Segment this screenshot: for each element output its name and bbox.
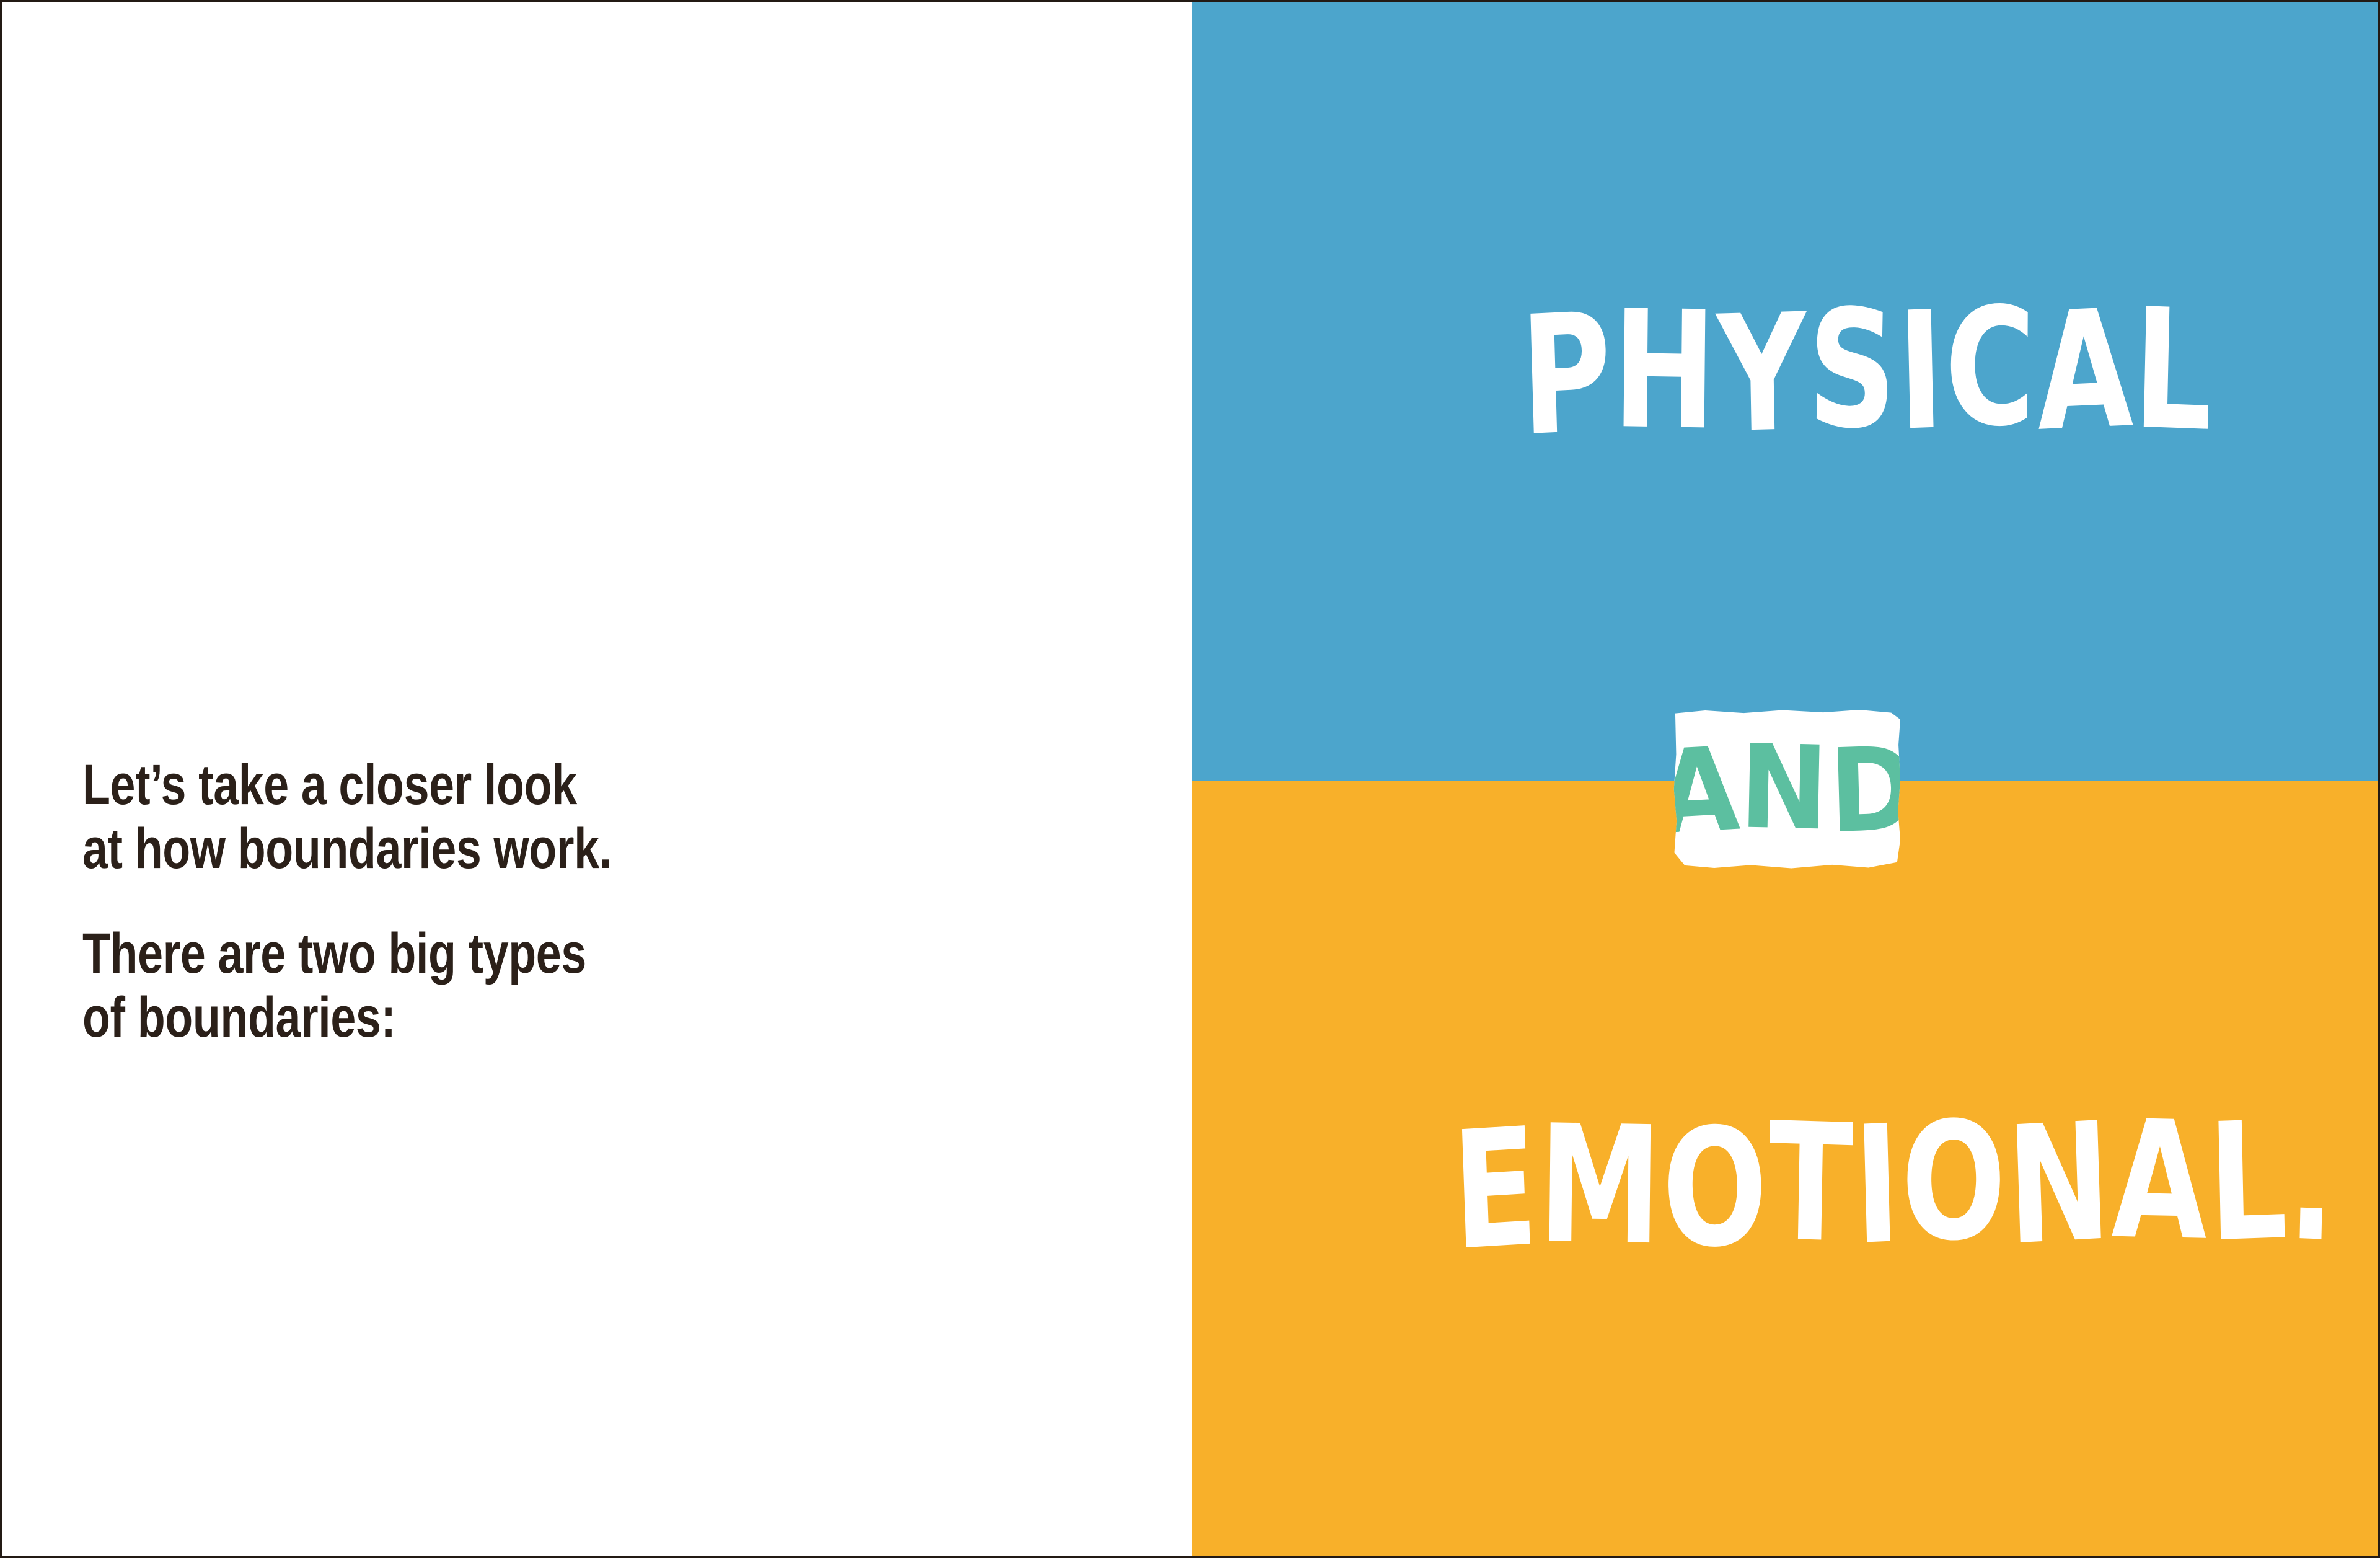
- heading-physical: PHYSICAL: [1520, 285, 2214, 456]
- and-badge-label: AND: [1656, 730, 1917, 848]
- left-text-panel: Let’s take a closer look at how boundari…: [2, 2, 1192, 1558]
- book-spread-page: Let’s take a closer look at how boundari…: [0, 0, 2380, 1558]
- body-copy-block: Let’s take a closer look at how boundari…: [82, 753, 950, 1050]
- paragraph-two-types: There are two big types of boundaries:: [82, 922, 777, 1050]
- and-badge: AND: [1673, 710, 1900, 869]
- heading-emotional: EMOTIONAL.: [1452, 1096, 2337, 1271]
- right-color-panel: PHYSICAL EMOTIONAL. AND: [1192, 2, 2380, 1558]
- paragraph-closer-look: Let’s take a closer look at how boundari…: [82, 753, 777, 881]
